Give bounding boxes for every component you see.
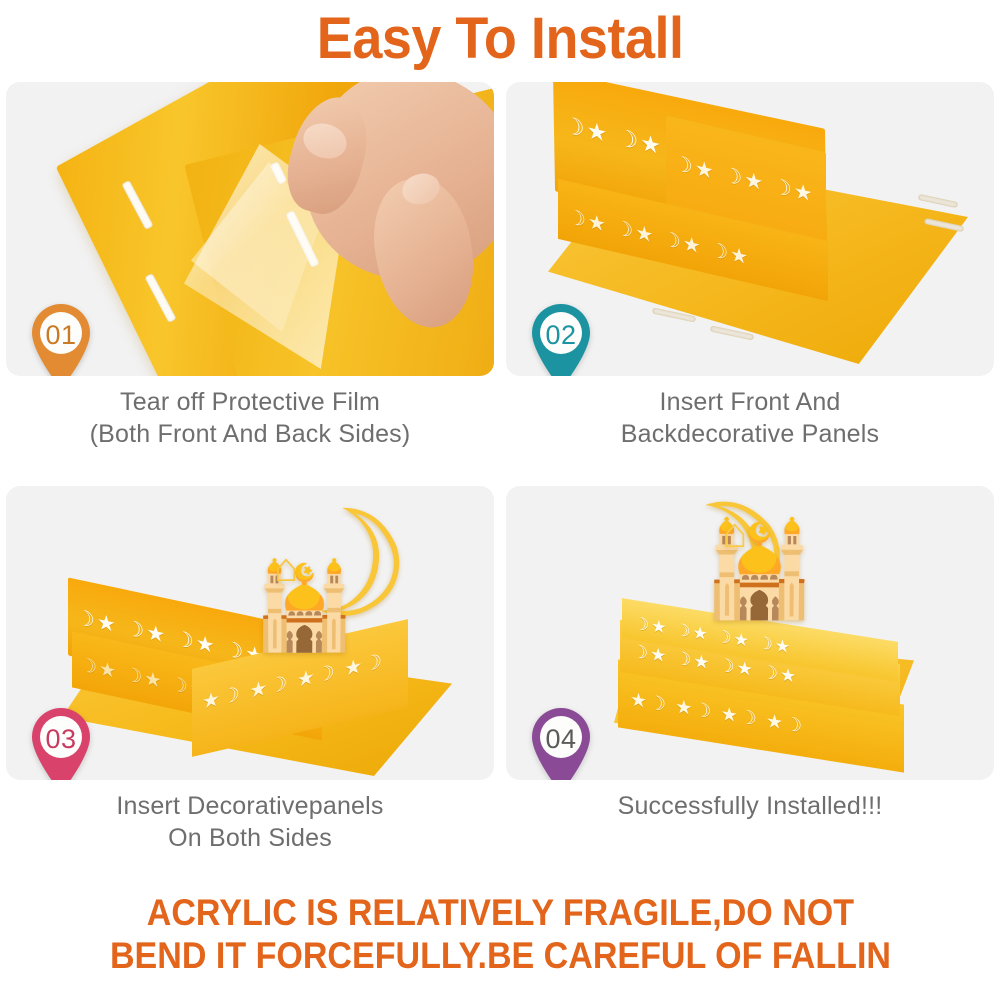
warning-line-2: BEND IT FORCEFULLY.BE CAREFUL OF FALLIN	[109, 934, 890, 977]
step-02-caption: Insert Front And Backdecorative Panels	[506, 386, 994, 450]
caption-line-1: Insert Decorativepanels	[6, 790, 494, 822]
step-01-caption: Tear off Protective Film (Both Front And…	[6, 386, 494, 450]
step-number-label: 02	[524, 306, 598, 364]
caption-line-2: Backdecorative Panels	[506, 418, 994, 450]
step-02-photo: ☽★ ☽★ ☽★ ☽★ ☽★ ☽★ ☽★ ☽★ ☽★ ☽★ ☽★ 02	[506, 82, 994, 376]
caption-line-1: Insert Front And	[506, 386, 994, 418]
step-number-label: 04	[524, 710, 598, 768]
step-04: ★☽ ★☽ ★☽ ★☽ ☽★ ☽★ ☽★ ☽★ ☽★ ☽★ ☽★ ☽★ ☽ 🕌 …	[506, 486, 994, 878]
step-03: ☽★ ☽★ ☽★ ☽★ ☽★ ☽★ ☽★ ☽★ ★☽ ★☽ ★☽ ★☽ ☽ 🕌 …	[6, 486, 494, 878]
warning-line-1: ACRYLIC IS RELATIVELY FRAGILE,DO NOT	[146, 891, 853, 934]
base-slot	[918, 194, 958, 208]
caption-line-1: Tear off Protective Film	[6, 386, 494, 418]
install-steps-grid: 01 Tear off Protective Film (Both Front …	[0, 78, 1000, 878]
mosque-ornament: 🕌	[252, 564, 357, 648]
step-03-caption: Insert Decorativepanels On Both Sides	[6, 790, 494, 854]
step-02: ☽★ ☽★ ☽★ ☽★ ☽★ ☽★ ☽★ ☽★ ☽★ ☽★ ☽★ 02 Inse…	[506, 82, 994, 474]
warning-footer: ACRYLIC IS RELATIVELY FRAGILE,DO NOT BEN…	[0, 886, 1000, 982]
step-01: 01 Tear off Protective Film (Both Front …	[6, 82, 494, 474]
caption-line-1: Successfully Installed!!!	[506, 790, 994, 822]
step-number-pin-04: 04	[524, 702, 598, 780]
minaret-ornament: ⌂	[722, 512, 747, 554]
mosque-ornament: 🕌	[702, 524, 817, 616]
page-header: Easy To Install	[0, 0, 1000, 78]
step-04-photo: ★☽ ★☽ ★☽ ★☽ ☽★ ☽★ ☽★ ☽★ ☽★ ☽★ ☽★ ☽★ ☽ 🕌 …	[506, 486, 994, 780]
caption-line-2: On Both Sides	[6, 822, 494, 854]
step-number-pin-02: 02	[524, 298, 598, 376]
step-04-caption: Successfully Installed!!!	[506, 790, 994, 822]
step-number-label: 01	[24, 306, 98, 364]
step-number-pin-01: 01	[24, 298, 98, 376]
minaret-ornament: ⌂	[274, 548, 298, 588]
step-01-photo: 01	[6, 82, 494, 376]
step-03-photo: ☽★ ☽★ ☽★ ☽★ ☽★ ☽★ ☽★ ☽★ ★☽ ★☽ ★☽ ★☽ ☽ 🕌 …	[6, 486, 494, 780]
caption-line-2: (Both Front And Back Sides)	[6, 418, 494, 450]
page-title: Easy To Install	[317, 10, 684, 68]
step-number-pin-03: 03	[24, 702, 98, 780]
step-number-label: 03	[24, 710, 98, 768]
